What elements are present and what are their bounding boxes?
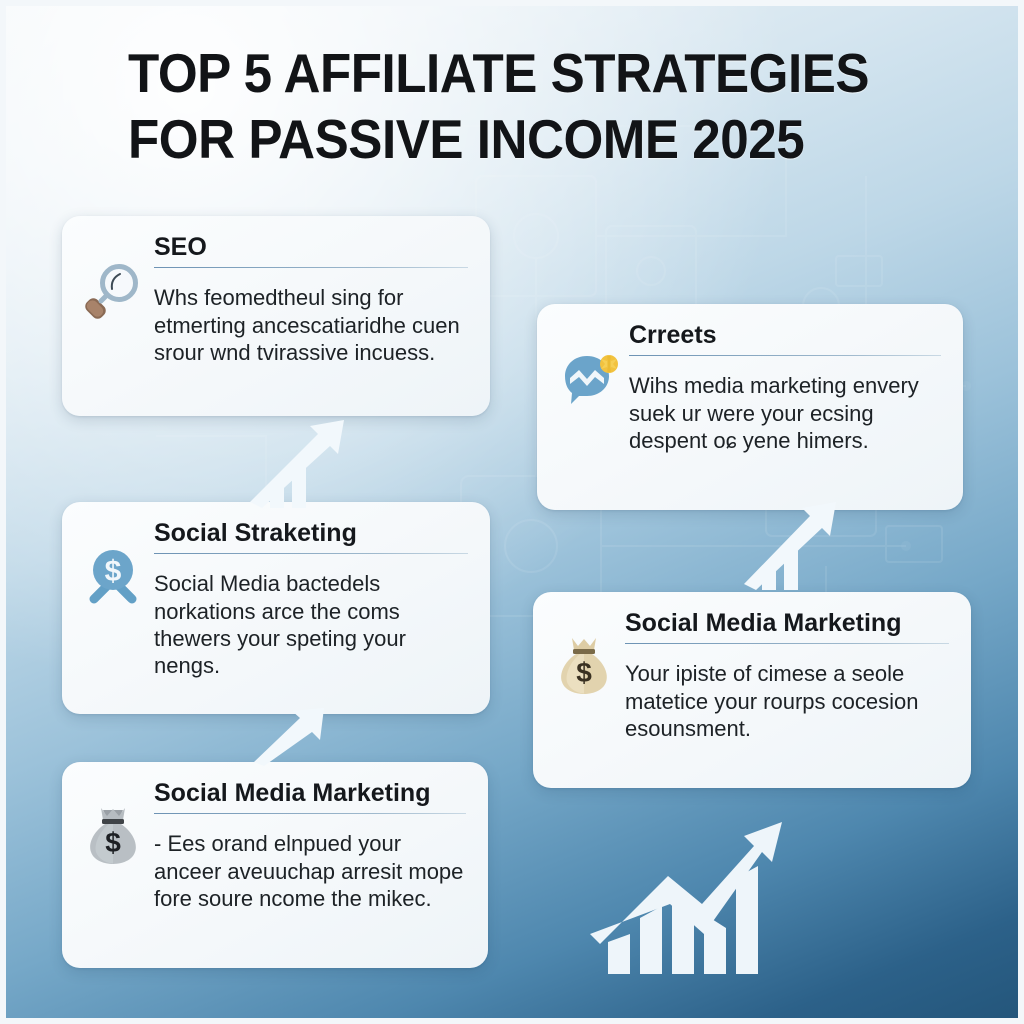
card-body: Crreets Wihs media marketing envery suek… [621,322,941,454]
svg-text:$: $ [105,555,122,588]
strategy-card-crreets[interactable]: Crreets Wihs media marketing envery suek… [537,304,963,510]
title-line-1: TOP 5 AFFILIATE STRATEGIES [128,40,863,106]
money-bag-tan-icon: $ [551,610,617,770]
card-heading: Social Straketing [154,520,468,553]
card-body: Social Media Marketing - Ees orand elnpu… [146,780,466,912]
card-body: Social Straketing Social Media bactedels… [146,520,468,679]
card-description: Whs feomedtheul sing for etmerting ances… [154,284,468,366]
svg-text:$: $ [576,657,592,688]
money-bag-gray-icon: $ [80,780,146,950]
heading-rule [154,267,468,268]
card-heading: Crreets [629,322,941,355]
card-body: Social Media Marketing Your ipiste of ci… [617,610,949,742]
svg-text:$: $ [105,827,121,858]
page-title: TOP 5 AFFILIATE STRATEGIES FOR PASSIVE I… [128,40,863,172]
card-body: SEO Whs feomedtheul sing for etmerting a… [146,234,468,366]
strategy-card-social-straketing[interactable]: $ Social Straketing Social Media bactede… [62,502,490,714]
strategy-card-seo[interactable]: SEO Whs feomedtheul sing for etmerting a… [62,216,490,416]
card-description: Your ipiste of cimese a seole matetice y… [625,660,949,742]
strategy-card-social-media-marketing-gray[interactable]: $ Social Media Marketing - Ees orand eln… [62,762,488,968]
card-heading: Social Media Marketing [154,780,466,813]
card-description: Social Media bactedels norkations arce t… [154,570,468,679]
card-description: Wihs media marketing envery suek ur were… [629,372,941,454]
card-heading: SEO [154,234,468,267]
heading-rule [625,643,949,644]
card-description: - Ees orand elnpued your anceer aveuucha… [154,830,466,912]
chat-bubble-star-icon [555,322,621,492]
magnifying-glass-icon [80,234,146,398]
heading-rule [154,813,466,814]
card-heading: Social Media Marketing [625,610,949,643]
dollar-magnifier-icon: $ [80,520,146,696]
title-line-2: FOR PASSIVE INCOME 2025 [128,106,863,172]
heading-rule [629,355,941,356]
heading-rule [154,553,468,554]
infographic-canvas: TOP 5 AFFILIATE STRATEGIES FOR PASSIVE I… [0,0,1024,1024]
strategy-card-social-media-marketing-tan[interactable]: $ Social Media Marketing Your ipiste of … [533,592,971,788]
